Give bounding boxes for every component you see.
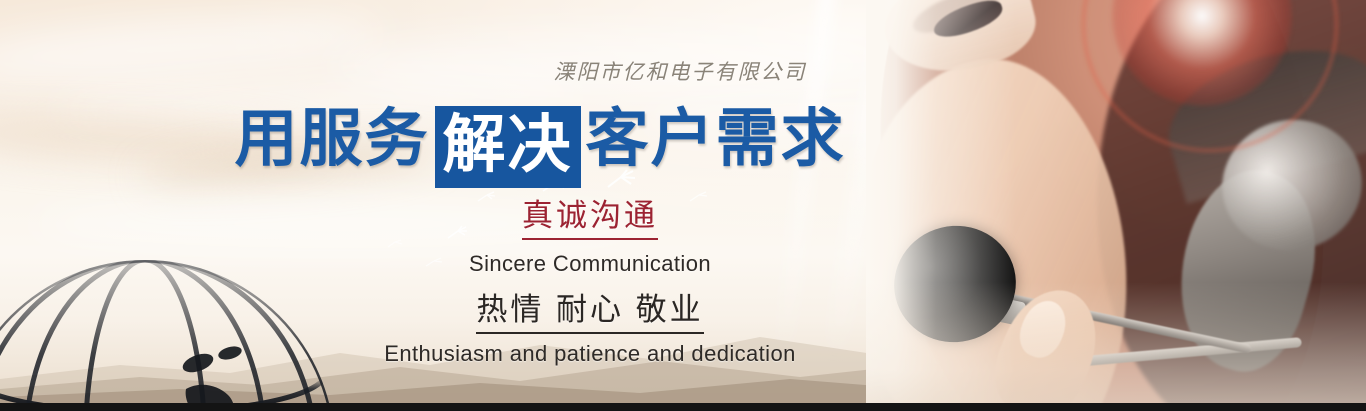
slogan-cn-1: 真诚沟通 — [522, 196, 658, 240]
slogan-en-1: Sincere Communication — [0, 250, 1180, 278]
company-name-text: 溧阳市亿和电子有限公司 — [554, 56, 807, 86]
company-name: 溧阳市亿和电子有限公司 — [0, 56, 1366, 86]
slogan-en-2: Enthusiasm and patience and dedication — [0, 340, 1180, 368]
headline-highlight: 解决 — [435, 106, 581, 188]
slogan-row: 真诚沟通 Sincere Communication — [0, 196, 1180, 278]
slogan-block: 真诚沟通 Sincere Communication 热情 耐心 敬业 Enth… — [0, 196, 1180, 368]
slogan-cn-2: 热情 耐心 敬业 — [476, 290, 703, 334]
slogan-row: 热情 耐心 敬业 Enthusiasm and patience and ded… — [0, 290, 1180, 368]
headline-part-1: 用服务 — [235, 104, 430, 174]
bottom-bar — [0, 403, 1366, 411]
headline-part-2: 客户需求 — [586, 104, 846, 174]
headline: 用服务解决客户需求 — [0, 99, 1080, 188]
promotional-banner: 溧阳市亿和电子有限公司 用服务解决客户需求 真诚沟通 Sincere Commu… — [0, 0, 1366, 411]
